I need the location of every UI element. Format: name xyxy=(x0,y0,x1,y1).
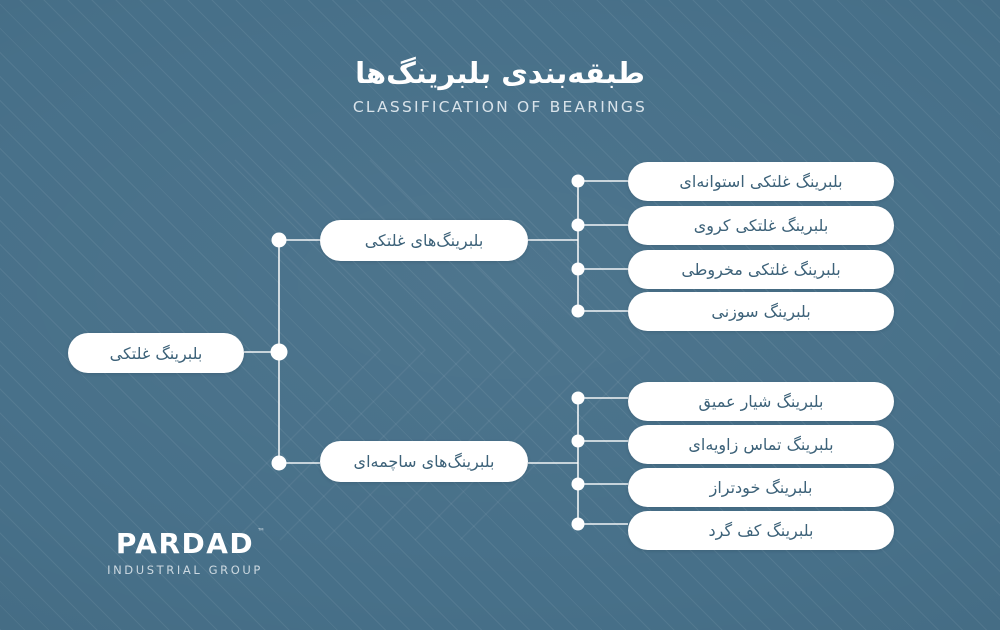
page-subtitle: CLASSIFICATION OF BEARINGS xyxy=(0,98,1000,116)
node-dot-leaf-0-2 xyxy=(572,263,585,276)
node-dot-leaf-0-3 xyxy=(572,305,585,318)
brand-logo: PARDAD ™ INDUSTRIAL GROUP xyxy=(85,530,285,577)
node-dot-leaf-1-2 xyxy=(572,478,585,491)
node-dot-leaf-1-1 xyxy=(572,435,585,448)
node-dot-root xyxy=(271,344,288,361)
node-branch-ball-bearings[interactable]: بلبرینگ‌های ساچمه‌ای xyxy=(320,441,528,482)
header: طبقه‌بندی بلبرینگ‌ها CLASSIFICATION OF B… xyxy=(0,55,1000,116)
trademark-icon: ™ xyxy=(257,528,265,536)
node-leaf-cylindrical-roller[interactable]: بلبرینگ غلتکی استوانه‌ای xyxy=(628,162,894,201)
node-dot-leaf-1-0 xyxy=(572,392,585,405)
node-dot-leaf-0-0 xyxy=(572,175,585,188)
page-title: طبقه‌بندی بلبرینگ‌ها xyxy=(0,55,1000,91)
node-leaf-deep-groove[interactable]: بلبرینگ شیار عمیق xyxy=(628,382,894,421)
node-leaf-thrust[interactable]: بلبرینگ کف گرد xyxy=(628,511,894,550)
node-leaf-spherical-roller[interactable]: بلبرینگ غلتکی کروی xyxy=(628,206,894,245)
logo-tagline: INDUSTRIAL GROUP xyxy=(85,563,285,577)
node-leaf-self-aligning[interactable]: بلبرینگ خودتراز xyxy=(628,468,894,507)
infographic-canvas: طبقه‌بندی بلبرینگ‌ها CLASSIFICATION OF B… xyxy=(0,0,1000,630)
logo-name: PARDAD xyxy=(116,527,254,560)
node-dot-leaf-0-1 xyxy=(572,219,585,232)
node-dot-branch-0 xyxy=(272,233,287,248)
node-branch-roller-bearings[interactable]: بلبرینگ‌های غلتکی xyxy=(320,220,528,261)
node-root[interactable]: بلبرینگ غلتکی xyxy=(68,333,244,373)
node-leaf-tapered-roller[interactable]: بلبرینگ غلتکی مخروطی xyxy=(628,250,894,289)
node-leaf-angular-contact[interactable]: بلبرینگ تماس زاویه‌ای xyxy=(628,425,894,464)
logo-wordmark: PARDAD ™ xyxy=(116,530,254,558)
node-leaf-needle-roller[interactable]: بلبرینگ سوزنی xyxy=(628,292,894,331)
node-dot-branch-1 xyxy=(272,456,287,471)
background-chevron-pattern xyxy=(180,150,650,550)
node-dot-leaf-1-3 xyxy=(572,518,585,531)
